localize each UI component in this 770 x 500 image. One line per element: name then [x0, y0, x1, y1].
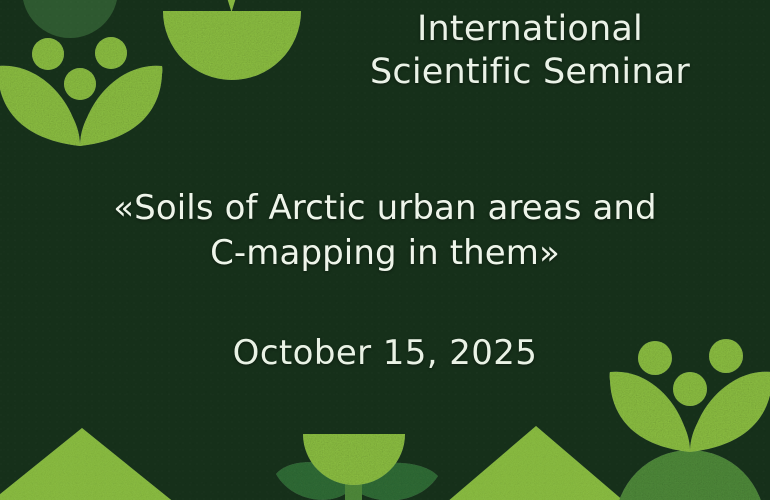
poster-heading: International Scientific Seminar — [320, 8, 740, 94]
seminar-title-line-1: «Soils of Arctic urban areas and — [113, 188, 656, 228]
seminar-poster: International Scientific Seminar «Soils … — [0, 0, 770, 500]
event-date: October 15, 2025 — [0, 333, 770, 373]
poster-heading-line-1: International — [417, 9, 643, 49]
poster-heading-line-2: Scientific Seminar — [320, 51, 740, 94]
seminar-title-line-2: C-mapping in them» — [0, 231, 770, 276]
seminar-title: «Soils of Arctic urban areas and C-mappi… — [0, 186, 770, 276]
